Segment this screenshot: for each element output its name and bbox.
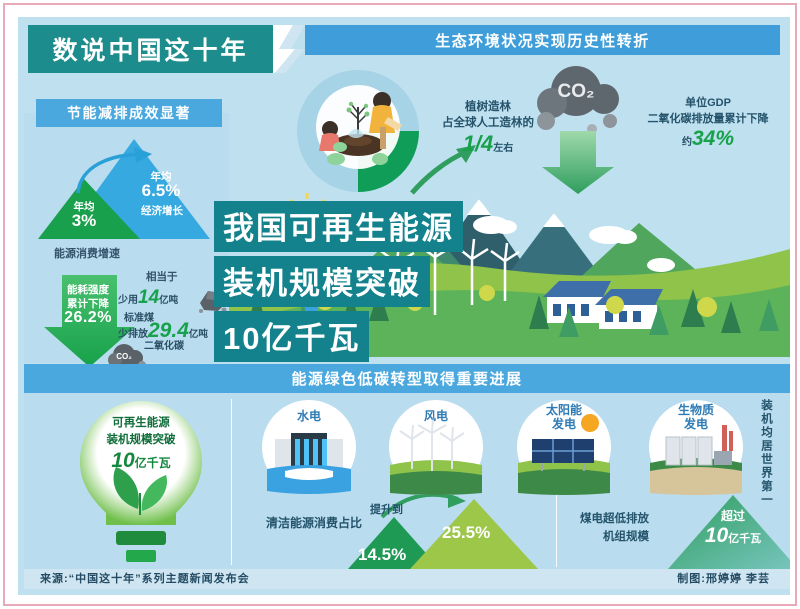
biomass-caption-line1: 生物质: [648, 403, 744, 417]
bulb-line2: 装机规模突破: [76, 432, 206, 449]
solar-power-caption: 太阳能 发电: [516, 403, 612, 431]
solar-caption-line1: 太阳能: [516, 403, 612, 417]
source-text: 来源:“中国这十年”系列主题新闻发布会: [40, 570, 250, 586]
header-energy-saving: 节能减排成效显著: [36, 99, 222, 127]
forest-line2: 占全球人工造林的: [424, 115, 552, 131]
coal-ultralow-line2: 机组规模: [580, 528, 649, 546]
gdp-line2: 二氧化碳排放量累计下降: [628, 111, 788, 127]
coal-ultralow-value-block: 超过 10亿千瓦: [673, 507, 790, 548]
bulb-text-block: 可再生能源 装机规模突破 10亿千瓦: [76, 415, 206, 473]
bottom-vertical-divider-1: [231, 399, 232, 565]
headline-line3: 10亿千瓦: [214, 311, 369, 362]
pyramid-green-value: 3%: [58, 211, 110, 231]
tree-planting-circle: [296, 69, 420, 193]
gdp-line1: 单位GDP: [628, 95, 788, 111]
header-eco-label: 生态环境状况实现历史性转折: [435, 30, 650, 51]
coal-ultralow-over: 超过: [673, 507, 790, 524]
gdp-value: 34%: [692, 127, 734, 150]
solar-caption-line2: 发电: [516, 417, 612, 431]
forest-stat-block: 植树造林 占全球人工造林的 1/4左右: [424, 99, 552, 157]
main-title-ribbon: 数说中国这十年: [28, 25, 273, 73]
headline-line1: 我国可再生能源: [214, 201, 463, 252]
main-headline: 我国可再生能源 装机规模突破 10亿千瓦: [214, 201, 463, 366]
forest-value: 1/4: [463, 131, 494, 156]
energy-intensity-line1: 能耗强度: [48, 283, 128, 297]
coal-ultralow-line1: 煤电超低排放: [580, 510, 649, 528]
wind-power-caption: 风电: [388, 409, 484, 423]
coal-value: 14: [138, 287, 159, 308]
bulb-line1: 可再生能源: [76, 415, 206, 432]
svg-text:CO₂: CO₂: [558, 81, 595, 102]
header-green-transition-label: 能源绿色低碳转型取得重要进展: [291, 368, 522, 389]
clean-energy-label: 清洁能源消费占比: [266, 514, 362, 531]
installed-capacity-note: 装机均居世界第一: [758, 399, 774, 507]
coal-ultralow-value: 10: [705, 524, 728, 547]
biomass-silos: [666, 437, 712, 465]
svg-text:CO₂: CO₂: [116, 352, 132, 361]
bulb-unit: 亿千瓦: [135, 456, 171, 470]
gdp-prefix: 约: [682, 137, 692, 148]
pyramid-blue-value: 6.5%: [130, 181, 192, 201]
headline-line2: 装机规模突破: [214, 256, 430, 307]
header-eco-environment: 生态环境状况实现历史性转折: [305, 25, 780, 55]
ribbon-tail-decoration: [273, 25, 305, 73]
poster-frame: 数说中国这十年 生态环境状况实现历史性转折 节能减排成效显著 支撑 年均 6.5…: [3, 3, 797, 606]
bulb-value: 10: [111, 449, 134, 472]
energy-intensity-text: 能耗强度 累计下降 26.2%: [48, 283, 128, 325]
forest-suffix: 左右: [493, 143, 513, 154]
co2-unit: 亿吨: [189, 329, 208, 340]
biomass-caption-line2: 发电: [648, 417, 744, 431]
credit-text: 制图:邢婷婷 李芸: [677, 570, 770, 586]
coal-ultralow-unit: 亿千瓦: [728, 533, 761, 545]
pyramid-blue-line3: 经济增长: [126, 203, 198, 218]
coal-prefix: 少用: [118, 295, 138, 306]
infographic-canvas: 数说中国这十年 生态环境状况实现历史性转折 节能减排成效显著 支撑 年均 6.5…: [18, 17, 790, 595]
page-title: 数说中国这十年: [52, 31, 248, 67]
gdp-stat-block: 单位GDP 二氧化碳排放量累计下降 约34%: [628, 95, 788, 151]
equivalent-label: 相当于: [146, 269, 178, 284]
clean-energy-value-from: 14.5%: [358, 545, 406, 565]
header-energy-saving-label: 节能减排成效显著: [67, 103, 191, 123]
coal-ultralow-label: 煤电超低排放 机组规模: [580, 510, 649, 546]
clean-energy-value-to: 25.5%: [442, 523, 490, 543]
energy-intensity-value: 26.2%: [48, 311, 128, 325]
hydropower-caption: 水电: [261, 409, 357, 423]
bottom-vertical-divider-2: [556, 495, 557, 567]
forest-line1: 植树造林: [424, 99, 552, 115]
coal-unit: 亿吨: [159, 295, 178, 306]
biomass-power-caption: 生物质 发电: [648, 403, 744, 431]
header-green-transition: 能源绿色低碳转型取得重要进展: [24, 364, 790, 393]
clean-energy-arrow-label: 提升到: [370, 501, 403, 517]
pyramid-axis-label: 能源消费增速: [54, 245, 120, 261]
